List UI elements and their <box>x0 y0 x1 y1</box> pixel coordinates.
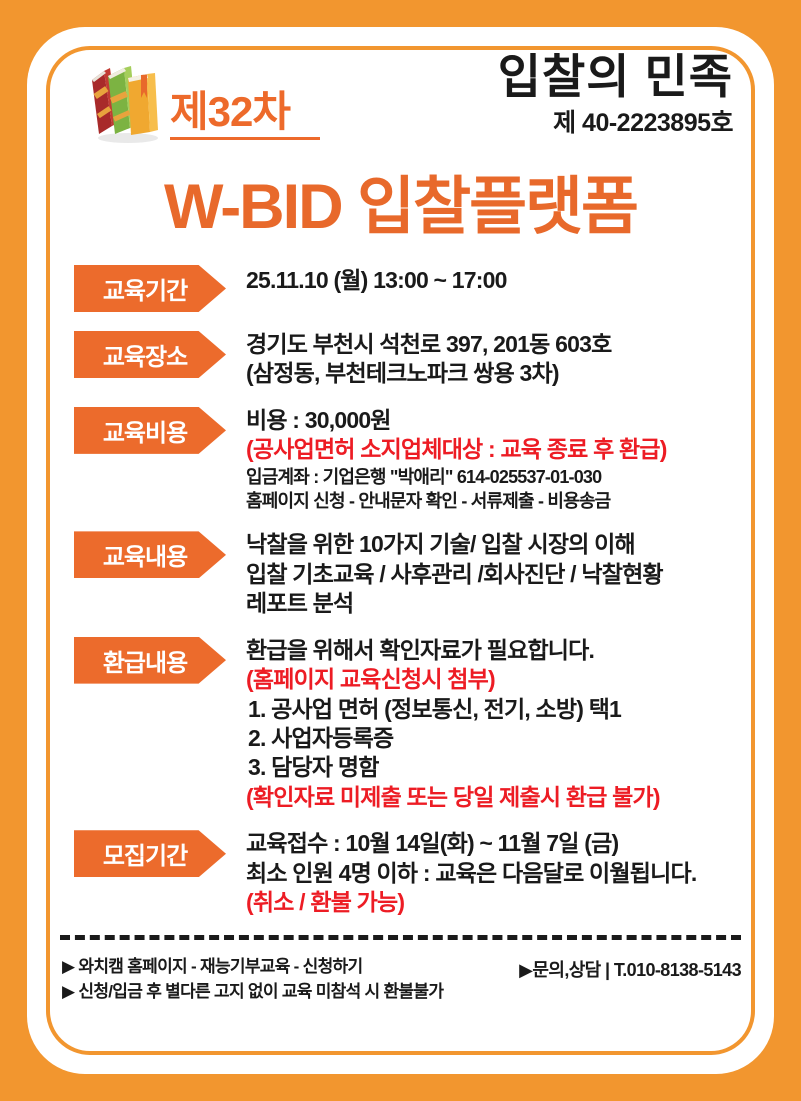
info-line: 입찰 기초교육 / 사후관리 /회사진단 / 낙찰현황 <box>246 560 745 589</box>
edition-wrap: 제32차 <box>170 91 320 146</box>
row-body-refund-content: 환급을 위해서 확인자료가 필요합니다. (홈페이지 교육신청시 첨부) 1. … <box>246 635 745 813</box>
info-line: 환급을 위해서 확인자료가 필요합니다. <box>246 636 745 665</box>
organization-name: 입찰의 민족 <box>498 52 733 101</box>
poster-header: 제32차 입찰의 민족 제 40-2223895호 <box>50 50 751 170</box>
info-line: (삼정동, 부천테크노파크 쌍용 3차) <box>246 359 745 388</box>
row-body-education-period: 25.11.10 (월) 13:00 ~ 17:00 <box>246 265 745 295</box>
info-line: 레포트 분석 <box>246 589 745 618</box>
info-line: 비용 : 30,000원 <box>246 406 745 435</box>
organization-registration-number: 제 40-2223895호 <box>498 103 733 139</box>
badge-education-fee: 교육비용 <box>74 407 226 454</box>
poster-root: 제32차 입찰의 민족 제 40-2223895호 W-BID 입찰플랫폼 교육… <box>0 0 801 1101</box>
refund-list-item: 3. 담당자 명함 <box>246 753 745 782</box>
poster-footer: ▶ 와치캠 홈페이지 - 재능기부교육 - 신청하기 ▶ 신청/입금 후 별다른… <box>50 954 751 1005</box>
info-row-education-content: 교육내용 낙찰을 위한 10가지 기술/ 입찰 시장의 이해 입찰 기초교육 /… <box>74 529 745 618</box>
row-body-education-place: 경기도 부천시 석천로 397, 201동 603호 (삼정동, 부천테크노파크… <box>246 329 745 389</box>
info-row-education-place: 교육장소 경기도 부천시 석천로 397, 201동 603호 (삼정동, 부천… <box>74 329 745 389</box>
badge-education-content: 교육내용 <box>74 531 226 578</box>
page-title: W-BID 입찰플랫폼 <box>50 176 751 239</box>
badge-education-period: 교육기간 <box>74 265 226 312</box>
brand-right: 입찰의 민족 제 40-2223895호 <box>498 52 733 139</box>
refund-list-item: 1. 공사업 면허 (정보통신, 전기, 소방) 택1 <box>246 695 745 724</box>
edition-underline <box>170 137 320 140</box>
refund-list-item: 2. 사업자등록증 <box>246 724 745 753</box>
info-line: 교육접수 : 10월 14일(화) ~ 11월 7일 (금) <box>246 829 745 858</box>
footer-line-apply-path: ▶ 와치캠 홈페이지 - 재능기부교육 - 신청하기 <box>62 954 443 980</box>
info-row-refund-content: 환급내용 환급을 위해서 확인자료가 필요합니다. (홈페이지 교육신청시 첨부… <box>74 635 745 813</box>
info-line: 경기도 부천시 석천로 397, 201동 603호 <box>246 330 745 359</box>
info-line-process: 홈페이지 신청 - 안내문자 확인 - 서류제출 - 비용송금 <box>246 489 745 513</box>
info-line: 낙찰을 위한 10가지 기술/ 입찰 시장의 이해 <box>246 530 745 559</box>
badge-refund-content: 환급내용 <box>74 637 226 684</box>
info-line-highlight: (확인자료 미제출 또는 당일 제출시 환급 불가) <box>246 783 745 812</box>
info-line-highlight: (홈페이지 교육신청시 첨부) <box>246 665 745 694</box>
footer-divider <box>60 935 741 940</box>
row-body-recruitment-period: 교육접수 : 10월 14일(화) ~ 11월 7일 (금) 최소 인원 4명 … <box>246 828 745 917</box>
info-line-highlight: (취소 / 환불 가능) <box>246 888 745 917</box>
info-line: 최소 인원 4명 이하 : 교육은 다음달로 이월됩니다. <box>246 859 745 888</box>
badge-recruitment-period: 모집기간 <box>74 830 226 877</box>
books-icon <box>84 54 164 146</box>
footer-contact-phone: ▶문의,상담 | T.010-8138-5143 <box>519 954 741 982</box>
info-rows: 교육기간 25.11.10 (월) 13:00 ~ 17:00 교육장소 경기도… <box>50 265 751 918</box>
info-line-bank-account: 입금계좌 : 기업은행 "박애리" 614-025537-01-030 <box>246 465 745 489</box>
footer-line-refund-notice: ▶ 신청/입금 후 별다른 고지 없이 교육 미참석 시 환불불가 <box>62 979 443 1005</box>
row-body-education-fee: 비용 : 30,000원 (공사업면허 소지업체대상 : 교육 종료 후 환급)… <box>246 405 745 513</box>
badge-education-place: 교육장소 <box>74 331 226 378</box>
edition-label: 제32차 <box>170 91 320 133</box>
row-body-education-content: 낙찰을 위한 10가지 기술/ 입찰 시장의 이해 입찰 기초교육 / 사후관리… <box>246 529 745 618</box>
info-row-education-period: 교육기간 25.11.10 (월) 13:00 ~ 17:00 <box>74 265 745 312</box>
info-row-education-fee: 교육비용 비용 : 30,000원 (공사업면허 소지업체대상 : 교육 종료 … <box>74 405 745 513</box>
info-line: 25.11.10 (월) 13:00 ~ 17:00 <box>246 266 745 295</box>
info-line-highlight: (공사업면허 소지업체대상 : 교육 종료 후 환급) <box>246 435 745 464</box>
brand-left: 제32차 <box>84 54 320 146</box>
info-row-recruitment-period: 모집기간 교육접수 : 10월 14일(화) ~ 11월 7일 (금) 최소 인… <box>74 828 745 917</box>
poster-content: 제32차 입찰의 민족 제 40-2223895호 W-BID 입찰플랫폼 교육… <box>50 50 751 1051</box>
footer-left: ▶ 와치캠 홈페이지 - 재능기부교육 - 신청하기 ▶ 신청/입금 후 별다른… <box>62 954 443 1005</box>
